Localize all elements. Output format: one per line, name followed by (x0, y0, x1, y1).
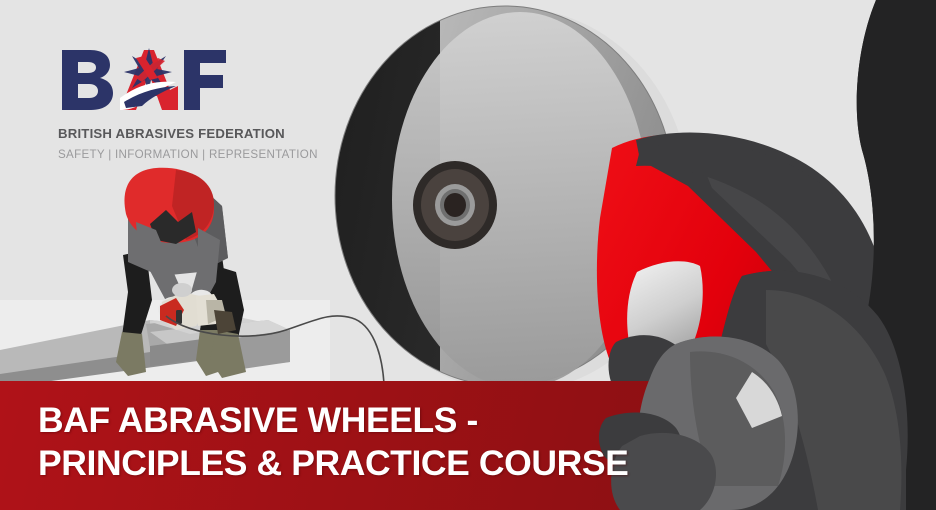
union-jack-a-glyph (120, 48, 178, 110)
banner-title-line-1: BAF ABRASIVE WHEELS - (38, 399, 678, 442)
banner-title: BAF ABRASIVE WHEELS - PRINCIPLES & PRACT… (38, 399, 678, 485)
baf-logo-tagline: SAFETY | INFORMATION | REPRESENTATION (58, 148, 308, 161)
promo-banner-root: BAF ABRASIVE WHEELS - PRINCIPLES & PRACT… (0, 0, 936, 510)
baf-logo-subtitle: BRITISH ABRASIVES FEDERATION (58, 126, 308, 141)
baf-wordmark (58, 46, 228, 114)
baf-union-jack-star-icon (58, 46, 228, 114)
baf-logo: BRITISH ABRASIVES FEDERATION SAFETY | IN… (58, 46, 308, 161)
banner-title-line-2: PRINCIPLES & PRACTICE COURSE (38, 442, 678, 485)
